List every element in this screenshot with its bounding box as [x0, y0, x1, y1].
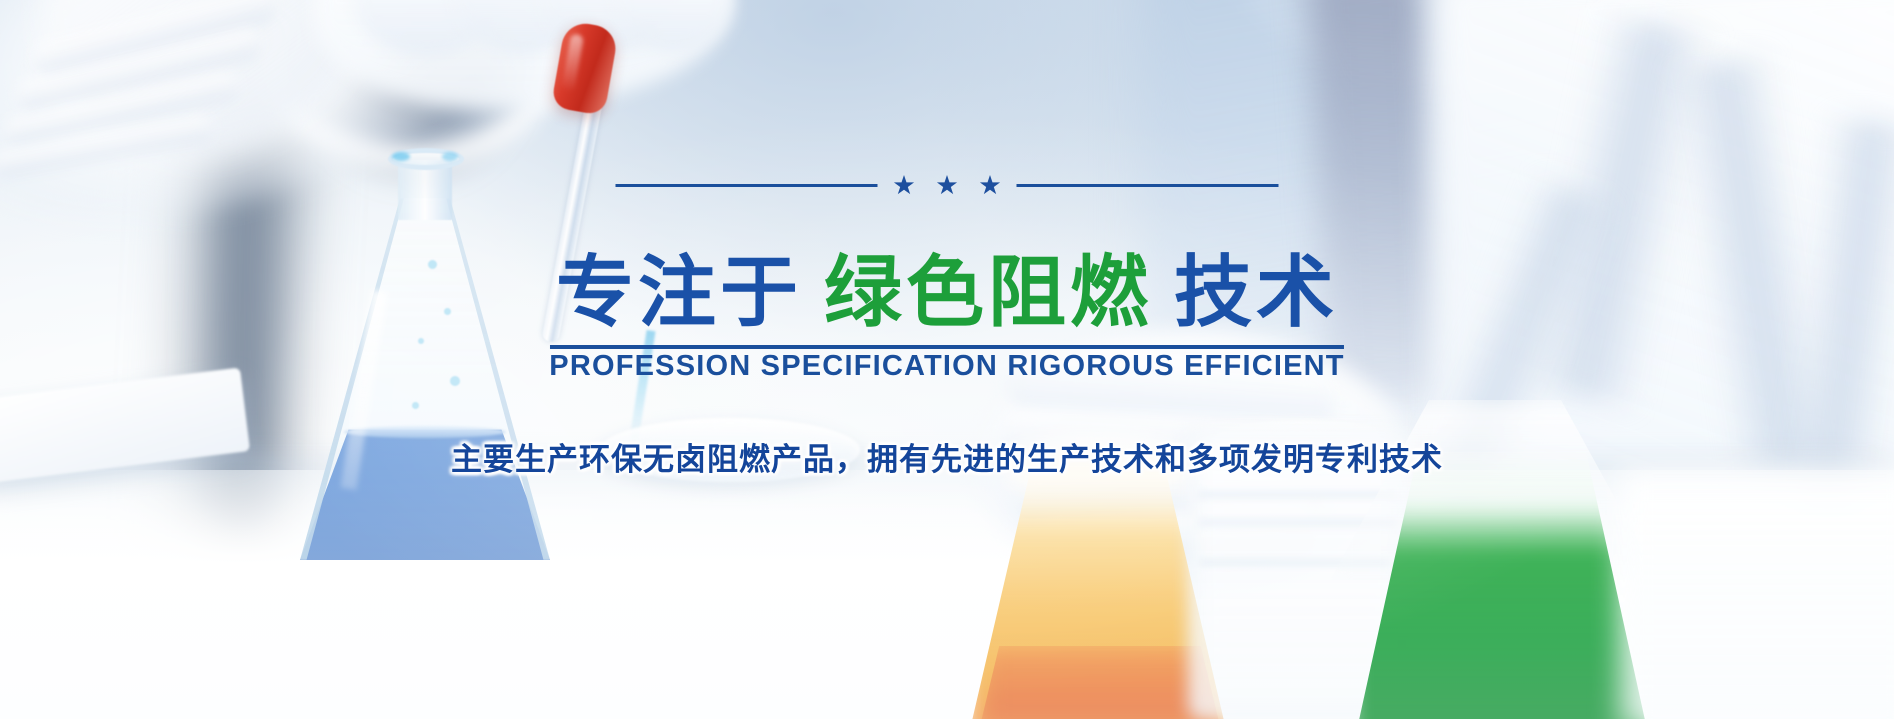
page-title: 专注于绿色阻燃技术 — [550, 253, 1344, 349]
headline-part-3: 技术 — [1174, 248, 1338, 336]
star-divider — [616, 175, 1279, 196]
star-icon — [894, 175, 915, 196]
chinese-tagline: 主要生产环保无卤阻燃产品，拥有先进的生产技术和多项发明专利技术 — [451, 434, 1443, 479]
divider-line-left — [616, 184, 878, 187]
star-icon — [980, 175, 1001, 196]
hero-banner: 专注于绿色阻燃技术 PROFESSION SPECIFICATION RIGOR… — [0, 0, 1894, 719]
star-icon — [937, 175, 958, 196]
headline-part-2: 绿色阻燃 — [824, 248, 1152, 336]
divider-line-right — [1017, 184, 1279, 187]
english-subtitle: PROFESSION SPECIFICATION RIGOROUS EFFICI… — [549, 350, 1344, 383]
headline-part-1: 专注于 — [556, 248, 802, 336]
banner-content: 专注于绿色阻燃技术 PROFESSION SPECIFICATION RIGOR… — [0, 0, 1894, 719]
star-group — [894, 175, 1001, 196]
